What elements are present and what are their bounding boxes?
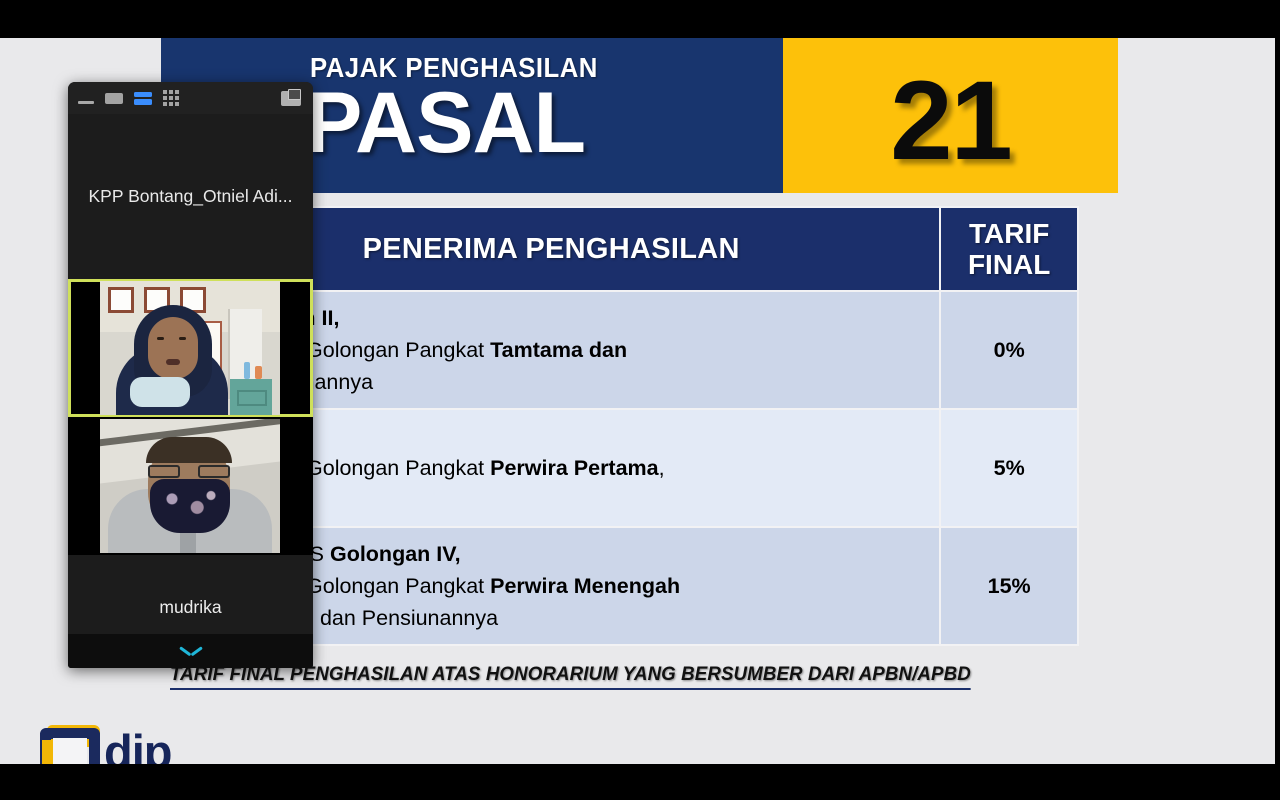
picture-in-picture-icon[interactable] [281, 91, 301, 106]
split-view-icon[interactable] [134, 92, 152, 105]
row-3-line2-bold: Perwira Menengah [490, 574, 680, 598]
grid-view-icon[interactable] [163, 90, 179, 106]
slide-right-letterbox [1275, 38, 1280, 764]
row-3-line1-bold2: Golongan IV, [330, 542, 461, 566]
video-tile-participant-2[interactable] [68, 417, 313, 555]
djp-logo-wordmark: djp [104, 730, 171, 764]
video-conference-panel[interactable]: KPP Bontang_Otniel Adi... [68, 82, 313, 668]
video-tile-participant-1[interactable] [68, 279, 313, 417]
video-feed-1 [100, 281, 280, 415]
row-2-line2-bold: Perwira Pertama [490, 456, 659, 480]
row-3-line3-post: , dan Pensiunannya [308, 606, 498, 630]
slide-header-title: PASAL [305, 80, 585, 166]
screen: PAJAK PENGHASILAN PASAL 21 PENERIMA PENG… [0, 0, 1280, 800]
single-view-icon[interactable] [105, 93, 123, 104]
column-header-rate: TARIF FINAL [941, 208, 1077, 290]
video-panel-footer [68, 634, 313, 668]
row-2-rate: 5% [941, 410, 1077, 526]
djp-logo: djp [40, 728, 171, 764]
video-feed-2 [100, 419, 280, 553]
video-panel-toolbar [68, 82, 313, 114]
djp-logo-mark-icon [40, 728, 100, 764]
slide-header-number: 21 [783, 48, 1118, 193]
meeting-title: KPP Bontang_Otniel Adi... [68, 114, 313, 279]
row-2-line2-post: , [659, 456, 665, 480]
column-header-rate-line1: TARIF [941, 218, 1077, 249]
row-1-line2-bold: Tamtama dan [490, 338, 627, 362]
row-3-rate: 15% [941, 528, 1077, 644]
chevron-down-icon[interactable] [180, 646, 202, 657]
column-header-rate-line2: FINAL [941, 249, 1077, 280]
minimize-icon[interactable] [78, 101, 94, 104]
row-1-rate: 0% [941, 292, 1077, 408]
